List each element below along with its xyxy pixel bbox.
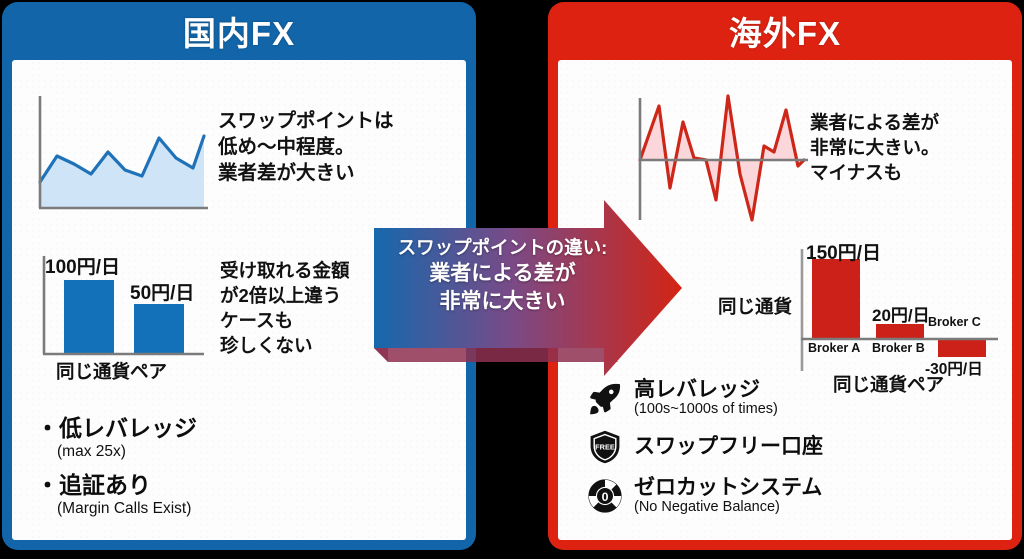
overseas-line-caption-line-1: 業者による差が	[810, 110, 940, 135]
domestic-bar-2	[134, 304, 184, 354]
comparison-arrow: スワップポイントの違い: 業者による差が 非常に大きい	[368, 198, 688, 383]
overseas-bar-side-label: 同じ通貨	[718, 293, 792, 319]
overseas-line-caption-line-2: 非常に大きい。	[810, 135, 940, 160]
overseas-feature-item-3: 0 ゼロカットシステム (No Negative Balance)	[585, 476, 915, 516]
domestic-bullet-2-sub: (Margin Calls Exist)	[57, 500, 197, 518]
domestic-bar-caption-line-2: が2倍以上違う	[220, 283, 350, 308]
domestic-bar-value-label-2: 50円/日	[130, 278, 194, 305]
shield-free-icon: FREE	[585, 427, 625, 467]
overseas-feature-1-text: 高レバレッジ (100s~1000s of times)	[634, 378, 778, 418]
overseas-bar-broker-c	[938, 339, 986, 357]
domestic-bar-caption-line-4: 珍しくない	[220, 333, 350, 358]
overseas-bar-value-label-a: 150円/日	[806, 238, 881, 265]
domestic-bullet-item-2: ・追証あり (Margin Calls Exist)	[36, 473, 197, 518]
overseas-feature-2-text: スワップフリー口座	[634, 435, 823, 458]
domestic-bar-caption: 受け取れる金額 が2倍以上違う ケースも 珍しくない	[220, 258, 350, 359]
domestic-line-caption-line-2: 低め〜中程度。	[218, 134, 394, 160]
overseas-feature-3-text: ゼロカットシステム (No Negative Balance)	[634, 476, 822, 516]
arrow-text-line-3: 非常に大きい	[390, 288, 615, 316]
overseas-bar-broker-b	[876, 324, 924, 339]
svg-text:0: 0	[602, 490, 609, 504]
domestic-line-caption: スワップポイントは 低め〜中程度。 業者差が大きい	[218, 108, 394, 186]
overseas-feature-1-sub: (100s~1000s of times)	[634, 401, 778, 418]
overseas-bar-broker-a	[812, 259, 860, 339]
overseas-line-caption: 業者による差が 非常に大きい。 マイナスも	[810, 110, 940, 185]
overseas-bar-cat-label-a: Broker A	[808, 341, 860, 355]
overseas-feature-item-2: FREE スワップフリー口座	[585, 427, 915, 467]
domestic-bar-xaxis-label: 同じ通貨ペア	[56, 358, 167, 384]
panel-domestic-title: 国内FX	[2, 2, 476, 60]
domestic-bar-caption-line-3: ケースも	[220, 308, 350, 333]
rocket-icon	[585, 378, 625, 418]
domestic-bullet-list: ・低レバレッジ (max 25x) ・追証あり (Margin Calls Ex…	[36, 416, 197, 530]
arrow-shadow-bottom	[374, 348, 618, 362]
domestic-line-caption-line-3: 業者差が大きい	[218, 160, 394, 186]
domestic-line-area	[40, 136, 204, 208]
chart-domestic-line	[26, 86, 211, 216]
domestic-bullet-1-main: ・低レバレッジ	[36, 416, 197, 442]
domestic-bullet-2-main: ・追証あり	[36, 473, 197, 499]
overseas-bar-cat-label-c: Broker C	[928, 315, 981, 329]
svg-text:FREE: FREE	[595, 443, 615, 452]
infographic-root: 国内FX スワップポイントは 低め〜中程度。 業者差が大きい 100円/日 50…	[0, 0, 1024, 559]
overseas-feature-3-main: ゼロカットシステム	[634, 476, 822, 499]
domestic-bar-caption-line-1: 受け取れる金額	[220, 258, 350, 283]
overseas-feature-list: 高レバレッジ (100s~1000s of times) FREE スワップフリ…	[585, 378, 915, 525]
overseas-bar-cat-label-b: Broker B	[872, 341, 925, 355]
overseas-feature-item-1: 高レバレッジ (100s~1000s of times)	[585, 378, 915, 418]
overseas-feature-2-main: スワップフリー口座	[634, 435, 823, 458]
domestic-bar-value-label-1: 100円/日	[45, 252, 120, 279]
arrow-text: スワップポイントの違い: 業者による差が 非常に大きい	[390, 236, 615, 316]
overseas-feature-3-sub: (No Negative Balance)	[634, 499, 822, 516]
panel-overseas-title: 海外FX	[548, 2, 1022, 60]
domestic-bullet-item-1: ・低レバレッジ (max 25x)	[36, 416, 197, 461]
domestic-bullet-1-sub: (max 25x)	[57, 443, 197, 461]
arrow-text-line-2: 業者による差が	[390, 260, 615, 288]
overseas-bar-value-label-b: 20円/日	[872, 301, 930, 326]
overseas-line-caption-line-3: マイナスも	[810, 160, 940, 185]
domestic-bar-1	[64, 280, 114, 354]
domestic-line-caption-line-1: スワップポイントは	[218, 108, 394, 134]
arrow-text-line-1: スワップポイントの違い:	[390, 236, 615, 260]
lifebuoy-zero-icon: 0	[585, 476, 625, 516]
